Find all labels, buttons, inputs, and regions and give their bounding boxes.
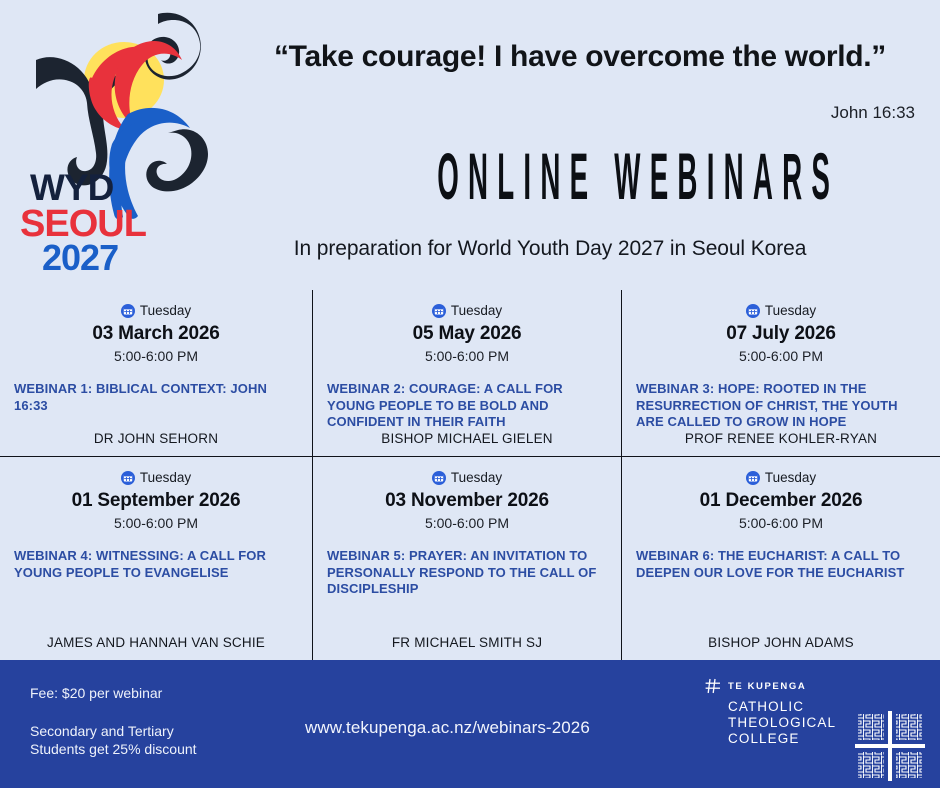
webinar-time: 5:00-6:00 PM xyxy=(636,515,926,531)
webinar-day-row: Tuesday xyxy=(14,471,298,485)
webinar-time: 5:00-6:00 PM xyxy=(327,515,607,531)
webinar-time: 5:00-6:00 PM xyxy=(636,348,926,364)
webinar-title: WEBINAR 1: BIBLICAL CONTEXT: JOHN 16:33 xyxy=(14,381,298,414)
poster-footer: Fee: $20 per webinar Secondary and Terti… xyxy=(0,660,940,788)
webinar-presenter: BISHOP JOHN ADAMS xyxy=(636,635,926,650)
discount-text: Secondary and Tertiary Students get 25% … xyxy=(30,722,197,759)
webinar-day: Tuesday xyxy=(140,304,191,318)
webinar-poster: WYD SEOUL 2027 “Take courage! I have ove… xyxy=(0,0,940,788)
webinar-day-row: Tuesday xyxy=(636,471,926,485)
webinar-cell[interactable]: Tuesday 01 September 2026 5:00-6:00 PM W… xyxy=(0,457,313,660)
webinar-day: Tuesday xyxy=(140,471,191,485)
webinar-day: Tuesday xyxy=(451,471,502,485)
webinar-title: WEBINAR 6: THE EUCHARIST: A CALL TO DEEP… xyxy=(636,548,926,581)
webinar-date: 01 December 2026 xyxy=(636,490,926,512)
poster-header: WYD SEOUL 2027 “Take courage! I have ove… xyxy=(0,0,940,290)
webinar-time: 5:00-6:00 PM xyxy=(14,348,298,364)
webinar-title: WEBINAR 2: COURAGE: A CALL FOR YOUNG PEO… xyxy=(327,381,607,431)
webinar-cell[interactable]: Tuesday 03 March 2026 5:00-6:00 PM WEBIN… xyxy=(0,290,313,457)
webinar-presenter: JAMES AND HANNAH VAN SCHIE xyxy=(14,635,298,650)
webinar-date: 07 July 2026 xyxy=(636,323,926,345)
te-kupenga-label: TE KUPENGA xyxy=(728,681,806,692)
weave-hash-icon xyxy=(705,678,721,694)
webinar-time: 5:00-6:00 PM xyxy=(327,348,607,364)
college-name-line-2: THEOLOGICAL xyxy=(728,715,836,731)
webinar-presenter: DR JOHN SEHORN xyxy=(14,431,298,446)
webinar-date: 03 November 2026 xyxy=(327,490,607,512)
webinar-presenter: BISHOP MICHAEL GIELEN xyxy=(327,431,607,446)
quote-reference: John 16:33 xyxy=(240,103,915,123)
webinar-title: WEBINAR 5: PRAYER: AN INVITATION TO PERS… xyxy=(327,548,607,598)
woven-cross-icon xyxy=(855,711,925,781)
webinar-day: Tuesday xyxy=(765,304,816,318)
webinar-time: 5:00-6:00 PM xyxy=(14,515,298,531)
fee-text: Fee: $20 per webinar xyxy=(30,685,162,701)
webinar-day-row: Tuesday xyxy=(14,304,298,318)
webinar-day: Tuesday xyxy=(451,304,502,318)
calendar-icon xyxy=(121,304,135,318)
page-title: ONLINE WEBINARS xyxy=(437,140,723,212)
page-subtitle: In preparation for World Youth Day 2027 … xyxy=(200,237,900,261)
webinar-cell[interactable]: Tuesday 03 November 2026 5:00-6:00 PM WE… xyxy=(313,457,622,660)
te-kupenga-logo: TE KUPENGA CATHOLIC THEOLOGICAL COLLEGE xyxy=(705,678,836,747)
webinar-date: 05 May 2026 xyxy=(327,323,607,345)
webinar-cell[interactable]: Tuesday 01 December 2026 5:00-6:00 PM WE… xyxy=(622,457,940,660)
webinar-day-row: Tuesday xyxy=(636,304,926,318)
college-name: CATHOLIC THEOLOGICAL COLLEGE xyxy=(728,699,836,747)
wyd-seoul-2027-logo: WYD SEOUL 2027 xyxy=(20,12,240,274)
webinar-presenter: PROF RENEE KOHLER-RYAN xyxy=(636,431,926,446)
calendar-icon xyxy=(432,304,446,318)
discount-line-1: Secondary and Tertiary xyxy=(30,722,197,740)
webinar-date: 03 March 2026 xyxy=(14,323,298,345)
calendar-icon xyxy=(746,471,760,485)
college-name-line-3: COLLEGE xyxy=(728,731,836,747)
webinar-date: 01 September 2026 xyxy=(14,490,298,512)
svg-text:2027: 2027 xyxy=(42,237,118,274)
college-name-line-1: CATHOLIC xyxy=(728,699,836,715)
calendar-icon xyxy=(121,471,135,485)
webinar-cell[interactable]: Tuesday 05 May 2026 5:00-6:00 PM WEBINAR… xyxy=(313,290,622,457)
webinar-title: WEBINAR 3: HOPE: ROOTED IN THE RESURRECT… xyxy=(636,381,926,431)
webinar-day-row: Tuesday xyxy=(327,304,607,318)
webinar-day: Tuesday xyxy=(765,471,816,485)
calendar-icon xyxy=(746,304,760,318)
headline-quote: “Take courage! I have overcome the world… xyxy=(240,40,920,73)
discount-line-2: Students get 25% discount xyxy=(30,740,197,758)
webinar-cell[interactable]: Tuesday 07 July 2026 5:00-6:00 PM WEBINA… xyxy=(622,290,940,457)
calendar-icon xyxy=(432,471,446,485)
svg-text:WYD: WYD xyxy=(30,167,114,208)
webinar-title: WEBINAR 4: WITNESSING: A CALL FOR YOUNG … xyxy=(14,548,298,581)
webinar-day-row: Tuesday xyxy=(327,471,607,485)
webinar-grid: Tuesday 03 March 2026 5:00-6:00 PM WEBIN… xyxy=(0,290,940,660)
te-kupenga-wordmark-row: TE KUPENGA xyxy=(705,678,836,694)
website-url[interactable]: www.tekupenga.ac.nz/webinars-2026 xyxy=(305,718,590,738)
webinar-presenter: FR MICHAEL SMITH SJ xyxy=(327,635,607,650)
